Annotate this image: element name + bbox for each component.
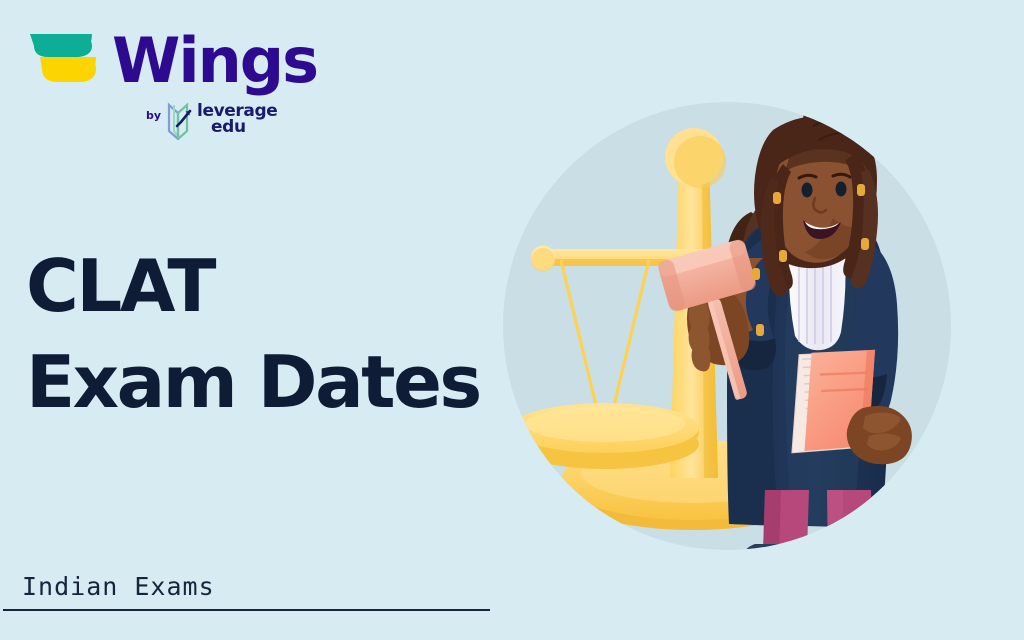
brand-sub-lockup: by leverage edu (146, 100, 277, 140)
category-label: Indian Exams (3, 570, 490, 604)
page-title-line-1: CLAT (26, 238, 480, 334)
brand-edu-line: edu (197, 119, 277, 135)
judge-illustration (497, 92, 957, 560)
wings-swoosh-icon (26, 32, 104, 88)
category-tag[interactable]: Indian Exams (3, 570, 490, 611)
category-underline-divider (3, 609, 490, 611)
leverage-edu-book-icon (166, 102, 192, 140)
wings-by-leverage-edu-logo[interactable]: Wings by leverage edu (26, 30, 276, 148)
clat-exam-dates-banner: Wings by leverage edu CLAT Exam Dates In… (0, 0, 1024, 640)
judge-with-gavel-and-scales-svg (497, 92, 957, 560)
brand-leverage-edu-label: leverage edu (197, 100, 277, 135)
brand-by-label: by (146, 100, 161, 122)
scale-pan (511, 403, 699, 469)
page-title-line-2: Exam Dates (26, 334, 480, 430)
page-title: CLAT Exam Dates (26, 238, 480, 430)
brand-wordmark: Wings (112, 30, 317, 92)
shoes (741, 544, 895, 560)
